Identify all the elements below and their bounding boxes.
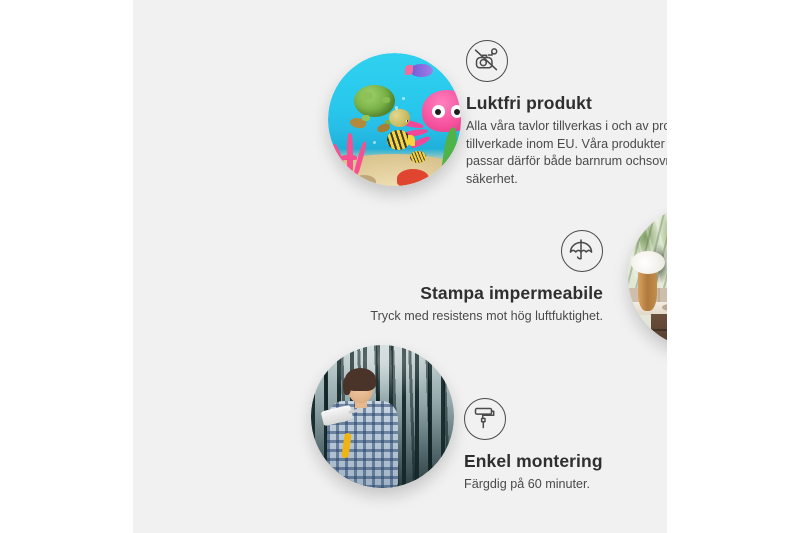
bathroom-leaf-wallpaper-photo xyxy=(628,205,667,348)
content-panel: Luktfri produkt Alla våra tavlor tillver… xyxy=(133,0,667,533)
feature-odorless-icon-wrap xyxy=(466,40,667,87)
no-fragrance-icon xyxy=(466,40,508,82)
feature-odorless: Luktfri produkt Alla våra tavlor tillver… xyxy=(466,40,667,188)
turtle-illustration xyxy=(349,85,408,129)
feature-waterproof-heading: Stampa impermeabile xyxy=(351,283,603,304)
white-flowers xyxy=(631,251,665,274)
wood-vanity xyxy=(651,314,667,348)
feature-waterproof: Stampa impermeabile Tryck med resistens … xyxy=(351,230,603,326)
woman-figure xyxy=(325,374,399,488)
product-features-infographic: Luktfri produkt Alla våra tavlor tillver… xyxy=(0,0,800,533)
yellow-striped-fish xyxy=(387,130,411,150)
pink-coral xyxy=(333,133,378,181)
soap-dish xyxy=(662,304,667,311)
sea-rock xyxy=(352,175,376,186)
feature-easy-heading: Enkel montering xyxy=(464,451,667,472)
feature-waterproof-icon-wrap xyxy=(351,230,603,277)
feature-odorless-heading: Luktfri produkt xyxy=(466,93,667,114)
purple-fish xyxy=(410,64,433,77)
umbrella-icon xyxy=(561,230,603,272)
feature-waterproof-body: Tryck med resistens mot hög luftfuktighe… xyxy=(351,308,603,326)
feature-odorless-body: Alla våra tavlor tillverkas i och av pro… xyxy=(466,118,667,188)
crab-illustration xyxy=(397,169,429,186)
gold-vase xyxy=(638,268,657,311)
underwater-kids-mural-photo xyxy=(328,53,461,186)
feature-easy-icon-wrap xyxy=(464,398,667,445)
feature-easy-body: Färgdig på 60 minuter. xyxy=(464,476,667,494)
paint-roller-icon xyxy=(464,398,506,440)
feature-easy-assembly: Enkel montering Färgdig på 60 minuter. xyxy=(464,398,667,494)
woman-paint-roller-forest-mural-photo xyxy=(311,345,454,488)
